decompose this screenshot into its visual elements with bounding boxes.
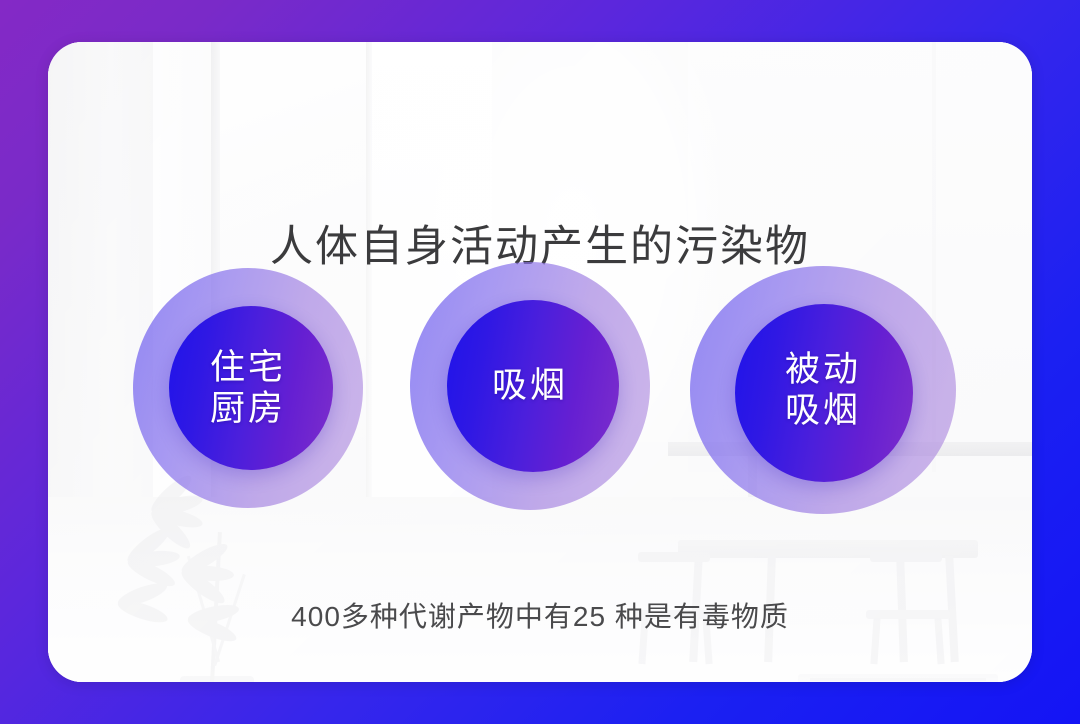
bubble-label: 住宅 厨房 — [210, 347, 286, 430]
bubble-smoking[interactable]: 吸烟 — [410, 262, 650, 510]
content-card: 人体自身活动产生的污染物 住宅 厨房 吸烟 — [48, 42, 1032, 682]
bubble-label-line-2: 吸烟 — [785, 390, 861, 431]
bubble-label-line-1: 吸烟 — [492, 365, 568, 406]
caption-text: 400多种代谢产物中有25 种是有毒物质 — [48, 595, 1032, 635]
bubble-label-line-1: 被动 — [785, 349, 861, 390]
slide-root: 人体自身活动产生的污染物 住宅 厨房 吸烟 — [0, 0, 1080, 724]
bubble-label: 吸烟 — [492, 365, 568, 406]
bubble-passive-smoking[interactable]: 被动 吸烟 — [690, 266, 956, 514]
bubble-label-line-1: 住宅 — [210, 347, 286, 388]
bubble-group: 住宅 厨房 吸烟 被动 吸烟 — [48, 42, 1032, 682]
bubble-residential-kitchen[interactable]: 住宅 厨房 — [133, 268, 363, 508]
bubble-label-line-2: 厨房 — [210, 388, 286, 429]
bubble-label: 被动 吸烟 — [785, 349, 861, 432]
